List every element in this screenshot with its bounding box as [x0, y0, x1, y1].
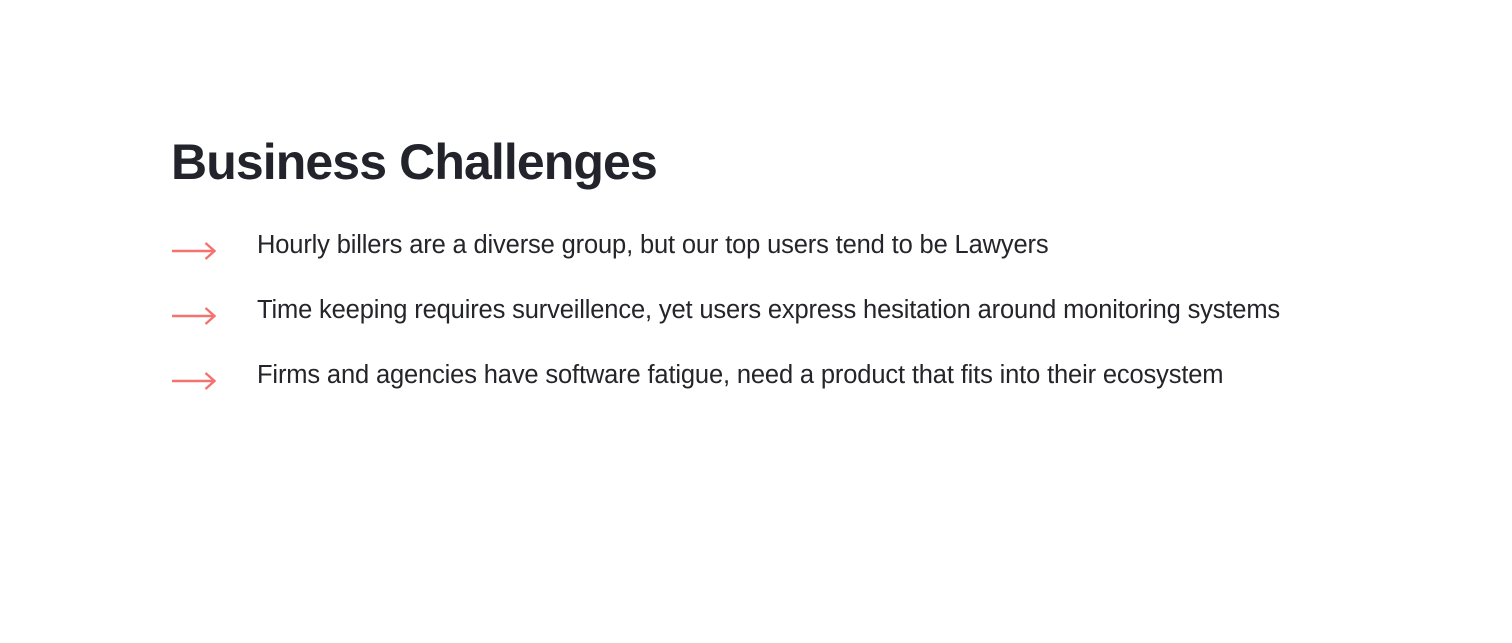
arrow-right-icon: [171, 303, 218, 329]
slide-canvas: Business Challenges Hourly billers are a…: [0, 0, 1512, 643]
arrow-right-icon: [171, 238, 218, 264]
arrow-right-icon: [171, 368, 218, 394]
list-item: Hourly billers are a diverse group, but …: [171, 228, 1491, 293]
list-item-label: Time keeping requires surveillence, yet …: [257, 293, 1491, 327]
list-item: Time keeping requires surveillence, yet …: [171, 293, 1491, 358]
list-item: Firms and agencies have software fatigue…: [171, 358, 1491, 423]
list-item-label: Hourly billers are a diverse group, but …: [257, 228, 1491, 262]
page-title: Business Challenges: [171, 131, 657, 193]
list-item-label: Firms and agencies have software fatigue…: [257, 358, 1491, 392]
business-challenges-list: Hourly billers are a diverse group, but …: [171, 228, 1491, 423]
